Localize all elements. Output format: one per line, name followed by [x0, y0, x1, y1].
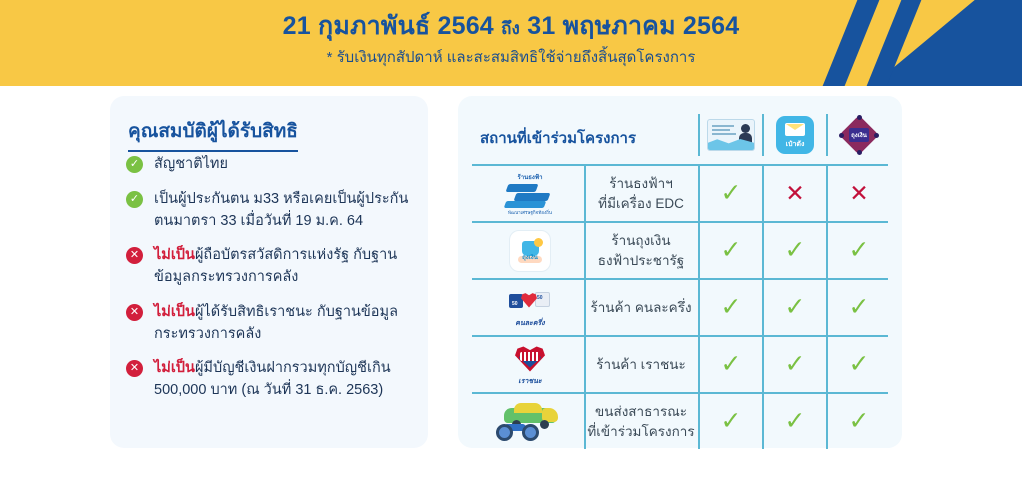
- cell-id-card: ✓: [698, 394, 762, 449]
- header-banner: 21 กุมภาพันธ์ 2564 ถึง 31 พฤษภาคม 2564 *…: [0, 0, 1022, 86]
- cell-id-card: ✓: [698, 337, 762, 392]
- column-header-id-card: [698, 114, 762, 156]
- column-header-paotang: เป๋าตัง: [762, 114, 826, 156]
- check-circle-icon: ✓: [126, 156, 143, 173]
- qualification-text: เป็นผู้ประกันตน ม33 หรือเคยเป็นผู้ประกัน…: [154, 189, 418, 233]
- cell-paotang: ✓: [762, 223, 826, 278]
- cell-thungngern: ✓: [826, 394, 890, 449]
- thungngern-icon: ถุงเงิน: [839, 115, 879, 155]
- infographic-root: 21 กุมภาพันธ์ 2564 ถึง 31 พฤษภาคม 2564 *…: [0, 0, 1022, 493]
- raochana-logo-text: เราชนะ: [518, 376, 541, 387]
- id-card-icon: [707, 119, 755, 151]
- thongfa-logo-text-top: ร้านธงฟ้า: [518, 172, 543, 182]
- row-label: ร้านค้า คนละครึ่ง: [584, 280, 696, 335]
- public-transport-logo: [482, 398, 578, 445]
- cell-id-card: ✓: [698, 280, 762, 335]
- cell-paotang: ✓: [762, 394, 826, 449]
- thongfa-shop-logo: ร้านธงฟ้า พัฒนาเศรษฐกิจท้องถิ่น: [482, 170, 578, 217]
- content-area: คุณสมบัติผู้ได้รับสิทธิ ✓ สัญชาติไทย ✓ เ…: [0, 86, 1022, 493]
- qualifications-panel: คุณสมบัติผู้ได้รับสิทธิ ✓ สัญชาติไทย ✓ เ…: [110, 96, 428, 448]
- table-row: เราชนะ ร้านค้า เราชนะ ✓ ✓ ✓: [472, 337, 888, 394]
- table-row: 50 50 คนละครึ่ง ร้านค้า คนละครึ่ง ✓ ✓ ✓: [472, 280, 888, 337]
- paotang-label: เป๋าตัง: [786, 139, 805, 150]
- header-subtitle: * รับเงินทุกสัปดาห์ และสะสมสิทธิใช้จ่ายถ…: [0, 45, 1022, 69]
- table-header-row: สถานที่เข้าร่วมโครงการ เป๋าตัง: [472, 106, 888, 166]
- cell-thungngern: ✕: [826, 166, 890, 221]
- venues-title: สถานที่เข้าร่วมโครงการ: [480, 126, 636, 150]
- qualifications-list: ✓ สัญชาติไทย ✓ เป็นผู้ประกันตน ม33 หรือเ…: [126, 154, 418, 415]
- paotang-app-icon: เป๋าตัง: [776, 116, 814, 154]
- thungngern-app-logo: ถุงเงิน: [482, 227, 578, 274]
- list-item: ✕ ไม่เป็นผู้มีบัญชีเงินฝากรวมทุกบัญชีเกิ…: [126, 358, 418, 402]
- cross-circle-icon: ✕: [126, 304, 143, 321]
- list-item: ✕ ไม่เป็นผู้ได้รับสิทธิเราชนะ กับฐานข้อม…: [126, 302, 418, 346]
- list-item: ✓ เป็นผู้ประกันตน ม33 หรือเคยเป็นผู้ประก…: [126, 189, 418, 233]
- cell-id-card: ✓: [698, 223, 762, 278]
- thungngern-logo-text: ถุงเงิน: [522, 252, 538, 262]
- cell-id-card: ✓: [698, 166, 762, 221]
- qualification-text: ไม่เป็นผู้ถือบัตรสวัสดิการแห่งรัฐ กับฐาน…: [154, 245, 418, 289]
- thongfa-logo-text-bottom: พัฒนาเศรษฐกิจท้องถิ่น: [508, 209, 552, 216]
- cell-paotang: ✓: [762, 337, 826, 392]
- raochana-logo: เราชนะ: [482, 341, 578, 388]
- cell-thungngern: ✓: [826, 223, 890, 278]
- venues-table: สถานที่เข้าร่วมโครงการ เป๋าตัง: [472, 106, 888, 449]
- cross-circle-icon: ✕: [126, 247, 143, 264]
- row-label: ขนส่งสาธารณะ ที่เข้าร่วมโครงการ: [584, 394, 696, 449]
- khonlakrueng-logo-text: คนละครึ่ง: [515, 318, 544, 329]
- cell-paotang: ✕: [762, 166, 826, 221]
- title-start-date: 21 กุมภาพันธ์ 2564: [283, 12, 494, 40]
- table-row: ร้านธงฟ้า พัฒนาเศรษฐกิจท้องถิ่น ร้านธงฟ้…: [472, 166, 888, 223]
- qualification-text: สัญชาติไทย: [154, 154, 228, 176]
- row-label: ร้านค้า เราชนะ: [584, 337, 696, 392]
- motorcycle-icon: [496, 422, 536, 436]
- cell-paotang: ✓: [762, 280, 826, 335]
- qualifications-title: คุณสมบัติผู้ได้รับสิทธิ: [128, 116, 298, 152]
- row-label: ร้านธงฟ้าฯ ที่มีเครื่อง EDC: [584, 166, 696, 221]
- check-circle-icon: ✓: [126, 191, 143, 208]
- title-connector: ถึง: [501, 19, 520, 38]
- table-row: ถุงเงิน ร้านถุงเงิน ธงฟ้าประชารัฐ ✓ ✓ ✓: [472, 223, 888, 280]
- list-item: ✓ สัญชาติไทย: [126, 154, 418, 176]
- khonlakrueng-logo: 50 50 คนละครึ่ง: [482, 284, 578, 331]
- table-row: ขนส่งสาธารณะ ที่เข้าร่วมโครงการ ✓ ✓ ✓: [472, 394, 888, 449]
- qualification-text: ไม่เป็นผู้ได้รับสิทธิเราชนะ กับฐานข้อมูล…: [154, 302, 418, 346]
- venues-panel: สถานที่เข้าร่วมโครงการ เป๋าตัง: [458, 96, 902, 448]
- cell-thungngern: ✓: [826, 337, 890, 392]
- list-item: ✕ ไม่เป็นผู้ถือบัตรสวัสดิการแห่งรัฐ กับฐ…: [126, 245, 418, 289]
- title-end-date: 31 พฤษภาคม 2564: [527, 12, 739, 40]
- column-header-thungngern: ถุงเงิน: [826, 114, 890, 156]
- cross-circle-icon: ✕: [126, 360, 143, 377]
- thungngern-label: ถุงเงิน: [849, 128, 869, 142]
- row-label: ร้านถุงเงิน ธงฟ้าประชารัฐ: [584, 223, 696, 278]
- page-title: 21 กุมภาพันธ์ 2564 ถึง 31 พฤษภาคม 2564: [0, 6, 1022, 46]
- qualification-text: ไม่เป็นผู้มีบัญชีเงินฝากรวมทุกบัญชีเกิน …: [154, 358, 418, 402]
- cell-thungngern: ✓: [826, 280, 890, 335]
